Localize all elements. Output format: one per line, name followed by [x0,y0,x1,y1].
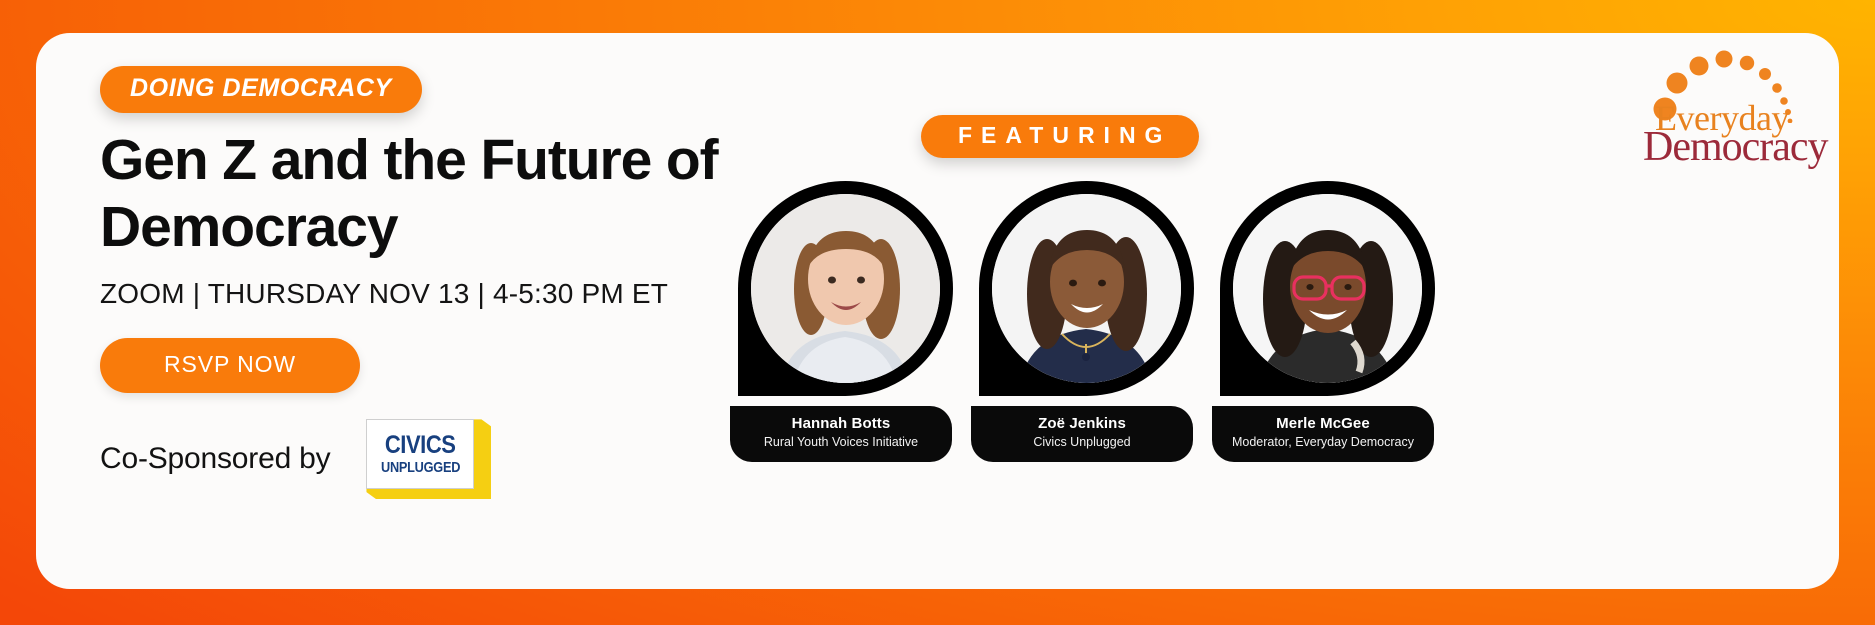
speaker-list: Hannah Botts Rural Youth Voices Initiati… [736,181,1839,462]
civics-unplugged-line1: CIVICS [385,434,456,458]
right-content-panel: FEATURING Everyday Democracy [736,33,1839,589]
series-kicker-badge: DOING DEMOCRACY [100,66,422,113]
logo-white-card: CIVICS UNPLUGGED [366,419,474,489]
speaker-affiliation: Rural Youth Voices Initiative [738,435,944,451]
speaker-photo-frame [979,181,1194,396]
speaker-affiliation: Moderator, Everyday Democracy [1220,435,1426,451]
speaker-portrait-icon [751,194,940,383]
featuring-badge: FEATURING [921,115,1199,158]
co-sponsored-label: Co-Sponsored by [100,442,330,476]
avatar [992,194,1181,383]
civics-unplugged-logo: CIVICS UNPLUGGED [366,419,491,499]
speaker-nameplate: Merle McGee Moderator, Everyday Democrac… [1212,406,1434,462]
banner-card: DOING DEMOCRACY Gen Z and the Future of … [36,33,1839,589]
speaker-name: Hannah Botts [738,415,944,433]
speaker-card: Merle McGee Moderator, Everyday Democrac… [1220,181,1435,462]
everyday-democracy-logo: Everyday Democracy [1643,45,1823,160]
speaker-photo-frame [738,181,953,396]
civics-unplugged-line2: UNPLUGGED [381,460,460,475]
speaker-nameplate: Hannah Botts Rural Youth Voices Initiati… [730,406,952,462]
rsvp-now-button[interactable]: RSVP NOW [100,338,360,393]
left-content-panel: DOING DEMOCRACY Gen Z and the Future of … [36,33,736,589]
brand-logo-line2: Democracy [1643,123,1828,171]
avatar [751,194,940,383]
avatar [1233,194,1422,383]
sponsor-row: Co-Sponsored by CIVICS UNPLUGGED [100,419,736,499]
event-banner: DOING DEMOCRACY Gen Z and the Future of … [0,0,1875,625]
event-details-line: ZOOM | THURSDAY NOV 13 | 4-5:30 PM ET [100,278,736,310]
speaker-name: Merle McGee [1220,415,1426,433]
speaker-portrait-icon [1233,194,1422,383]
speaker-card: Hannah Botts Rural Youth Voices Initiati… [738,181,953,462]
speaker-nameplate: Zoë Jenkins Civics Unplugged [971,406,1193,462]
speaker-portrait-icon [992,194,1181,383]
speaker-name: Zoë Jenkins [979,415,1185,433]
speaker-photo-frame [1220,181,1435,396]
speaker-affiliation: Civics Unplugged [979,435,1185,451]
speaker-card: Zoë Jenkins Civics Unplugged [979,181,1194,462]
page-title: Gen Z and the Future of Democracy [100,127,736,260]
